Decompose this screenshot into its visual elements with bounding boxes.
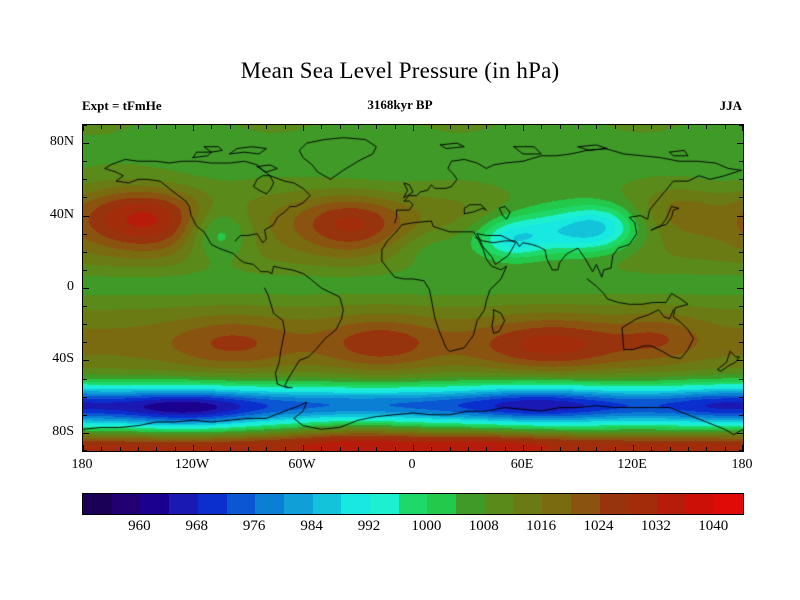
x-tick-label-60W: 60W [288, 457, 315, 473]
colorbar-swatch-15 [514, 494, 543, 514]
tick-right-80 [737, 143, 743, 144]
tick-right-40 [737, 216, 743, 217]
tick-bottom--100 [230, 447, 231, 451]
tick-left-90 [83, 125, 87, 126]
colorbar-swatch-10 [370, 494, 399, 514]
colorbar-swatch-7 [284, 494, 313, 514]
colorbar-label-976: 976 [243, 518, 266, 535]
tick-right-30 [739, 234, 743, 235]
tick-bottom--90 [248, 447, 249, 451]
colorbar-swatch-0 [83, 494, 112, 514]
tick-left--30 [83, 342, 87, 343]
colorbar-swatch-8 [313, 494, 342, 514]
experiment-label: Expt = tFmHe [82, 98, 162, 114]
tick-top--140 [156, 125, 157, 129]
x-tick-label-120E: 120E [617, 457, 647, 473]
tick-left-70 [83, 161, 87, 162]
tick-bottom--150 [138, 447, 139, 451]
tick-right-50 [739, 197, 743, 198]
tick-top-60 [523, 125, 524, 131]
tick-right--80 [737, 433, 743, 434]
x-tick-label-0: 0 [409, 457, 416, 473]
colorbar-swatch-22 [714, 494, 743, 514]
colorbar-label-1000: 1000 [411, 518, 441, 535]
tick-bottom--170 [101, 447, 102, 451]
colorbar-swatch-16 [542, 494, 571, 514]
colorbar-swatch-9 [341, 494, 370, 514]
tick-right--40 [737, 360, 743, 361]
tick-top-150 [688, 125, 689, 129]
colorbar-swatch-6 [255, 494, 284, 514]
season-label: JJA [720, 98, 742, 114]
colorbar-swatch-14 [485, 494, 514, 514]
tick-left--60 [83, 397, 87, 398]
colorbar-swatch-1 [112, 494, 141, 514]
tick-bottom-20 [450, 447, 451, 451]
tick-top-30 [468, 125, 469, 129]
colorbar-swatch-21 [686, 494, 715, 514]
tick-top-70 [541, 125, 542, 129]
tick-top--30 [358, 125, 359, 129]
page-title: Mean Sea Level Pressure (in hPa) [0, 58, 800, 84]
colorbar-label-1032: 1032 [641, 518, 671, 535]
tick-left-40 [83, 216, 89, 217]
colorbar-label-984: 984 [300, 518, 323, 535]
colorbar-label-960: 960 [128, 518, 151, 535]
tick-bottom-30 [468, 447, 469, 451]
tick-top-20 [450, 125, 451, 129]
tick-right-10 [739, 270, 743, 271]
tick-bottom--10 [395, 447, 396, 451]
x-tick-label-180: 180 [732, 457, 753, 473]
x-tick-label-60E: 60E [511, 457, 534, 473]
tick-top--40 [340, 125, 341, 129]
colorbar-swatch-20 [657, 494, 686, 514]
colorbar-label-968: 968 [186, 518, 209, 535]
tick-left--90 [83, 450, 87, 451]
tick-left-60 [83, 179, 87, 180]
y-tick-label-0: 0 [67, 279, 74, 295]
colorbar-label-1008: 1008 [469, 518, 499, 535]
tick-left--20 [83, 324, 87, 325]
tick-top--50 [321, 125, 322, 129]
tick-top-10 [431, 125, 432, 129]
tick-bottom-140 [670, 447, 671, 451]
tick-top-140 [670, 125, 671, 129]
tick-top--70 [285, 125, 286, 129]
colorbar-swatch-3 [169, 494, 198, 514]
tick-right--30 [739, 342, 743, 343]
x-tick-label-120W: 120W [175, 457, 209, 473]
tick-bottom-110 [615, 447, 616, 451]
colorbar-label-1040: 1040 [698, 518, 728, 535]
tick-top-80 [560, 125, 561, 129]
tick-bottom--110 [211, 447, 212, 451]
tick-top--150 [138, 125, 139, 129]
tick-left--40 [83, 360, 89, 361]
tick-top--110 [211, 125, 212, 129]
tick-bottom--40 [340, 447, 341, 451]
tick-left--80 [83, 433, 89, 434]
tick-top-170 [725, 125, 726, 129]
tick-bottom-10 [431, 447, 432, 451]
tick-top-40 [486, 125, 487, 129]
tick-top--100 [230, 125, 231, 129]
tick-top--90 [248, 125, 249, 129]
tick-top--130 [175, 125, 176, 129]
tick-right-20 [739, 252, 743, 253]
tick-bottom-0 [413, 445, 414, 451]
tick-bottom-50 [505, 447, 506, 451]
tick-right-60 [739, 179, 743, 180]
tick-left-10 [83, 270, 87, 271]
tick-bottom--120 [193, 445, 194, 451]
tick-bottom-160 [706, 447, 707, 451]
tick-right--60 [739, 397, 743, 398]
tick-top--80 [266, 125, 267, 129]
tick-left-20 [83, 252, 87, 253]
tick-right--70 [739, 415, 743, 416]
tick-top-130 [651, 125, 652, 129]
colorbar-swatch-11 [399, 494, 428, 514]
tick-top-0 [413, 125, 414, 131]
tick-bottom--20 [376, 447, 377, 451]
tick-left-50 [83, 197, 87, 198]
tick-right--10 [739, 306, 743, 307]
tick-left-80 [83, 143, 89, 144]
colorbar-swatch-18 [600, 494, 629, 514]
tick-bottom-80 [560, 447, 561, 451]
tick-bottom--50 [321, 447, 322, 451]
colorbar-swatch-4 [198, 494, 227, 514]
tick-top--160 [120, 125, 121, 129]
tick-bottom-170 [725, 447, 726, 451]
colorbar-swatch-19 [628, 494, 657, 514]
tick-left-30 [83, 234, 87, 235]
tick-right--90 [739, 450, 743, 451]
tick-left--50 [83, 379, 87, 380]
tick-top-90 [578, 125, 579, 129]
map-plot-area [82, 124, 744, 452]
tick-bottom--160 [120, 447, 121, 451]
tick-bottom--70 [285, 447, 286, 451]
colorbar-label-992: 992 [358, 518, 381, 535]
colorbar [82, 493, 744, 515]
pressure-contour-map [83, 125, 743, 451]
tick-top--170 [101, 125, 102, 129]
tick-right-90 [739, 125, 743, 126]
colorbar-swatch-5 [227, 494, 256, 514]
tick-bottom--80 [266, 447, 267, 451]
tick-left-0 [83, 288, 89, 289]
tick-left--70 [83, 415, 87, 416]
tick-bottom--130 [175, 447, 176, 451]
tick-left--10 [83, 306, 87, 307]
tick-bottom--140 [156, 447, 157, 451]
y-tick-label-80S: 80S [52, 424, 74, 440]
colorbar-swatch-17 [571, 494, 600, 514]
colorbar-swatch-12 [427, 494, 456, 514]
colorbar-swatch-2 [140, 494, 169, 514]
tick-bottom--30 [358, 447, 359, 451]
figure-root: Mean Sea Level Pressure (in hPa) 3168kyr… [0, 0, 800, 600]
y-tick-label-40N: 40N [50, 207, 74, 223]
tick-bottom-60 [523, 445, 524, 451]
tick-bottom-70 [541, 447, 542, 451]
tick-bottom-130 [651, 447, 652, 451]
y-tick-label-40S: 40S [52, 351, 74, 367]
colorbar-swatch-13 [456, 494, 485, 514]
tick-top--10 [395, 125, 396, 129]
tick-bottom-150 [688, 447, 689, 451]
colorbar-label-1016: 1016 [526, 518, 556, 535]
tick-top-110 [615, 125, 616, 129]
tick-bottom-120 [633, 445, 634, 451]
tick-right--20 [739, 324, 743, 325]
x-tick-label-180: 180 [72, 457, 93, 473]
tick-top--60 [303, 125, 304, 131]
tick-right-0 [737, 288, 743, 289]
tick-top-120 [633, 125, 634, 131]
tick-bottom-90 [578, 447, 579, 451]
tick-top--120 [193, 125, 194, 131]
tick-bottom--60 [303, 445, 304, 451]
tick-right-70 [739, 161, 743, 162]
tick-top-50 [505, 125, 506, 129]
colorbar-label-1024: 1024 [584, 518, 614, 535]
y-tick-label-80N: 80N [50, 134, 74, 150]
tick-bottom-100 [596, 447, 597, 451]
tick-top-160 [706, 125, 707, 129]
tick-top-100 [596, 125, 597, 129]
tick-bottom-40 [486, 447, 487, 451]
tick-top--20 [376, 125, 377, 129]
tick-right--50 [739, 379, 743, 380]
